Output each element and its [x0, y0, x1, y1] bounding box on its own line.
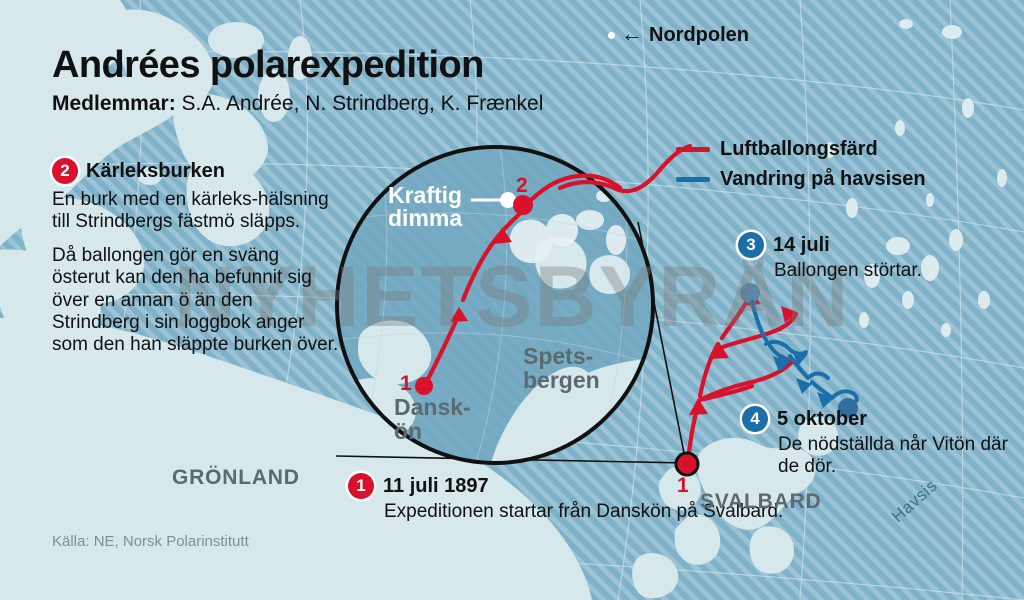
north-pole-callout: ← Nordpolen	[608, 24, 749, 47]
legend-item-balloon: Luftballongsfärd	[676, 138, 926, 161]
caption-paragraph-2: Då ballongen gör en sväng österut kan de…	[52, 245, 342, 357]
inset-marker-2	[513, 195, 533, 215]
label-gronland: GRÖNLAND	[172, 466, 300, 490]
label-kraftig-dimma-line1: Kraftig	[388, 184, 462, 207]
step-3-title: 14 juli	[773, 234, 830, 257]
badge-1: 1	[348, 473, 374, 499]
members-label: Medlemmar:	[52, 92, 176, 115]
caption-title: Kärleksburken	[86, 160, 225, 183]
label-spetsbergen: Spets- bergen	[523, 345, 600, 393]
step-1-title: 11 juli 1897	[383, 475, 489, 498]
north-pole-label: Nordpolen	[649, 24, 749, 47]
source-credit: Källa: NE, Norsk Polarinstitutt	[52, 533, 249, 550]
inset-marker-1	[415, 377, 433, 395]
inset-marker-label-2: 2	[516, 174, 528, 198]
legend-item-trek: Vandring på havsisen	[676, 168, 926, 191]
label-spetsbergen-line2: bergen	[523, 369, 600, 393]
page-title: Andrées polarexpedition	[52, 44, 484, 87]
step-callout-4: 4 5 oktober De nödställda når Vitön där …	[742, 406, 1024, 479]
label-spetsbergen-line1: Spets-	[523, 345, 600, 369]
legend-label-balloon: Luftballongsfärd	[720, 138, 878, 161]
label-svalbard: SVALBARD	[700, 490, 822, 514]
label-dansko: Dansk- ön	[394, 396, 471, 444]
label-dansko-line2: ön	[394, 420, 471, 444]
step-3-body: Ballongen störtar.	[774, 260, 922, 282]
legend-swatch-balloon	[676, 147, 710, 152]
pole-dot-icon	[608, 32, 615, 39]
members-value: S.A. Andrée, N. Strindberg, K. Frænkel	[176, 92, 544, 115]
caption-header: 2 Kärleksburken	[52, 158, 342, 184]
badge-3: 3	[738, 232, 764, 258]
legend: Luftballongsfärd Vandring på havsisen	[676, 138, 926, 198]
badge-4: 4	[742, 406, 768, 432]
infographic-canvas: NYHETSBYRÅN Andrées polarexpedition Medl…	[0, 0, 1024, 600]
legend-swatch-trek	[676, 177, 710, 182]
caption-karleksburken: 2 Kärleksburken En burk med en kärleks-h…	[52, 158, 342, 368]
main-marker-label-1: 1	[677, 474, 689, 498]
step-3-header: 3 14 juli	[738, 232, 922, 258]
step-4-title: 5 oktober	[777, 408, 867, 431]
arrow-left-icon: ←	[621, 23, 643, 45]
inset-marker-label-1: 1	[400, 372, 412, 396]
legend-label-trek: Vandring på havsisen	[720, 168, 926, 191]
trek-start-marker	[740, 283, 760, 303]
label-kraftig-dimma-line2: dimma	[388, 207, 462, 230]
label-kraftig-dimma: Kraftig dimma	[388, 184, 462, 231]
badge-2: 2	[52, 158, 78, 184]
step-callout-3: 3 14 juli Ballongen störtar.	[738, 232, 922, 282]
main-marker-1	[676, 453, 698, 475]
step-4-header: 4 5 oktober	[742, 406, 1024, 432]
label-dansko-line1: Dansk-	[394, 396, 471, 420]
members-line: Medlemmar: S.A. Andrée, N. Strindberg, K…	[52, 92, 543, 116]
step-4-body: De nödställda når Vitön där de dör.	[778, 434, 1024, 479]
caption-paragraph-1: En burk med en kärleks-hälsning till Str…	[52, 189, 342, 234]
